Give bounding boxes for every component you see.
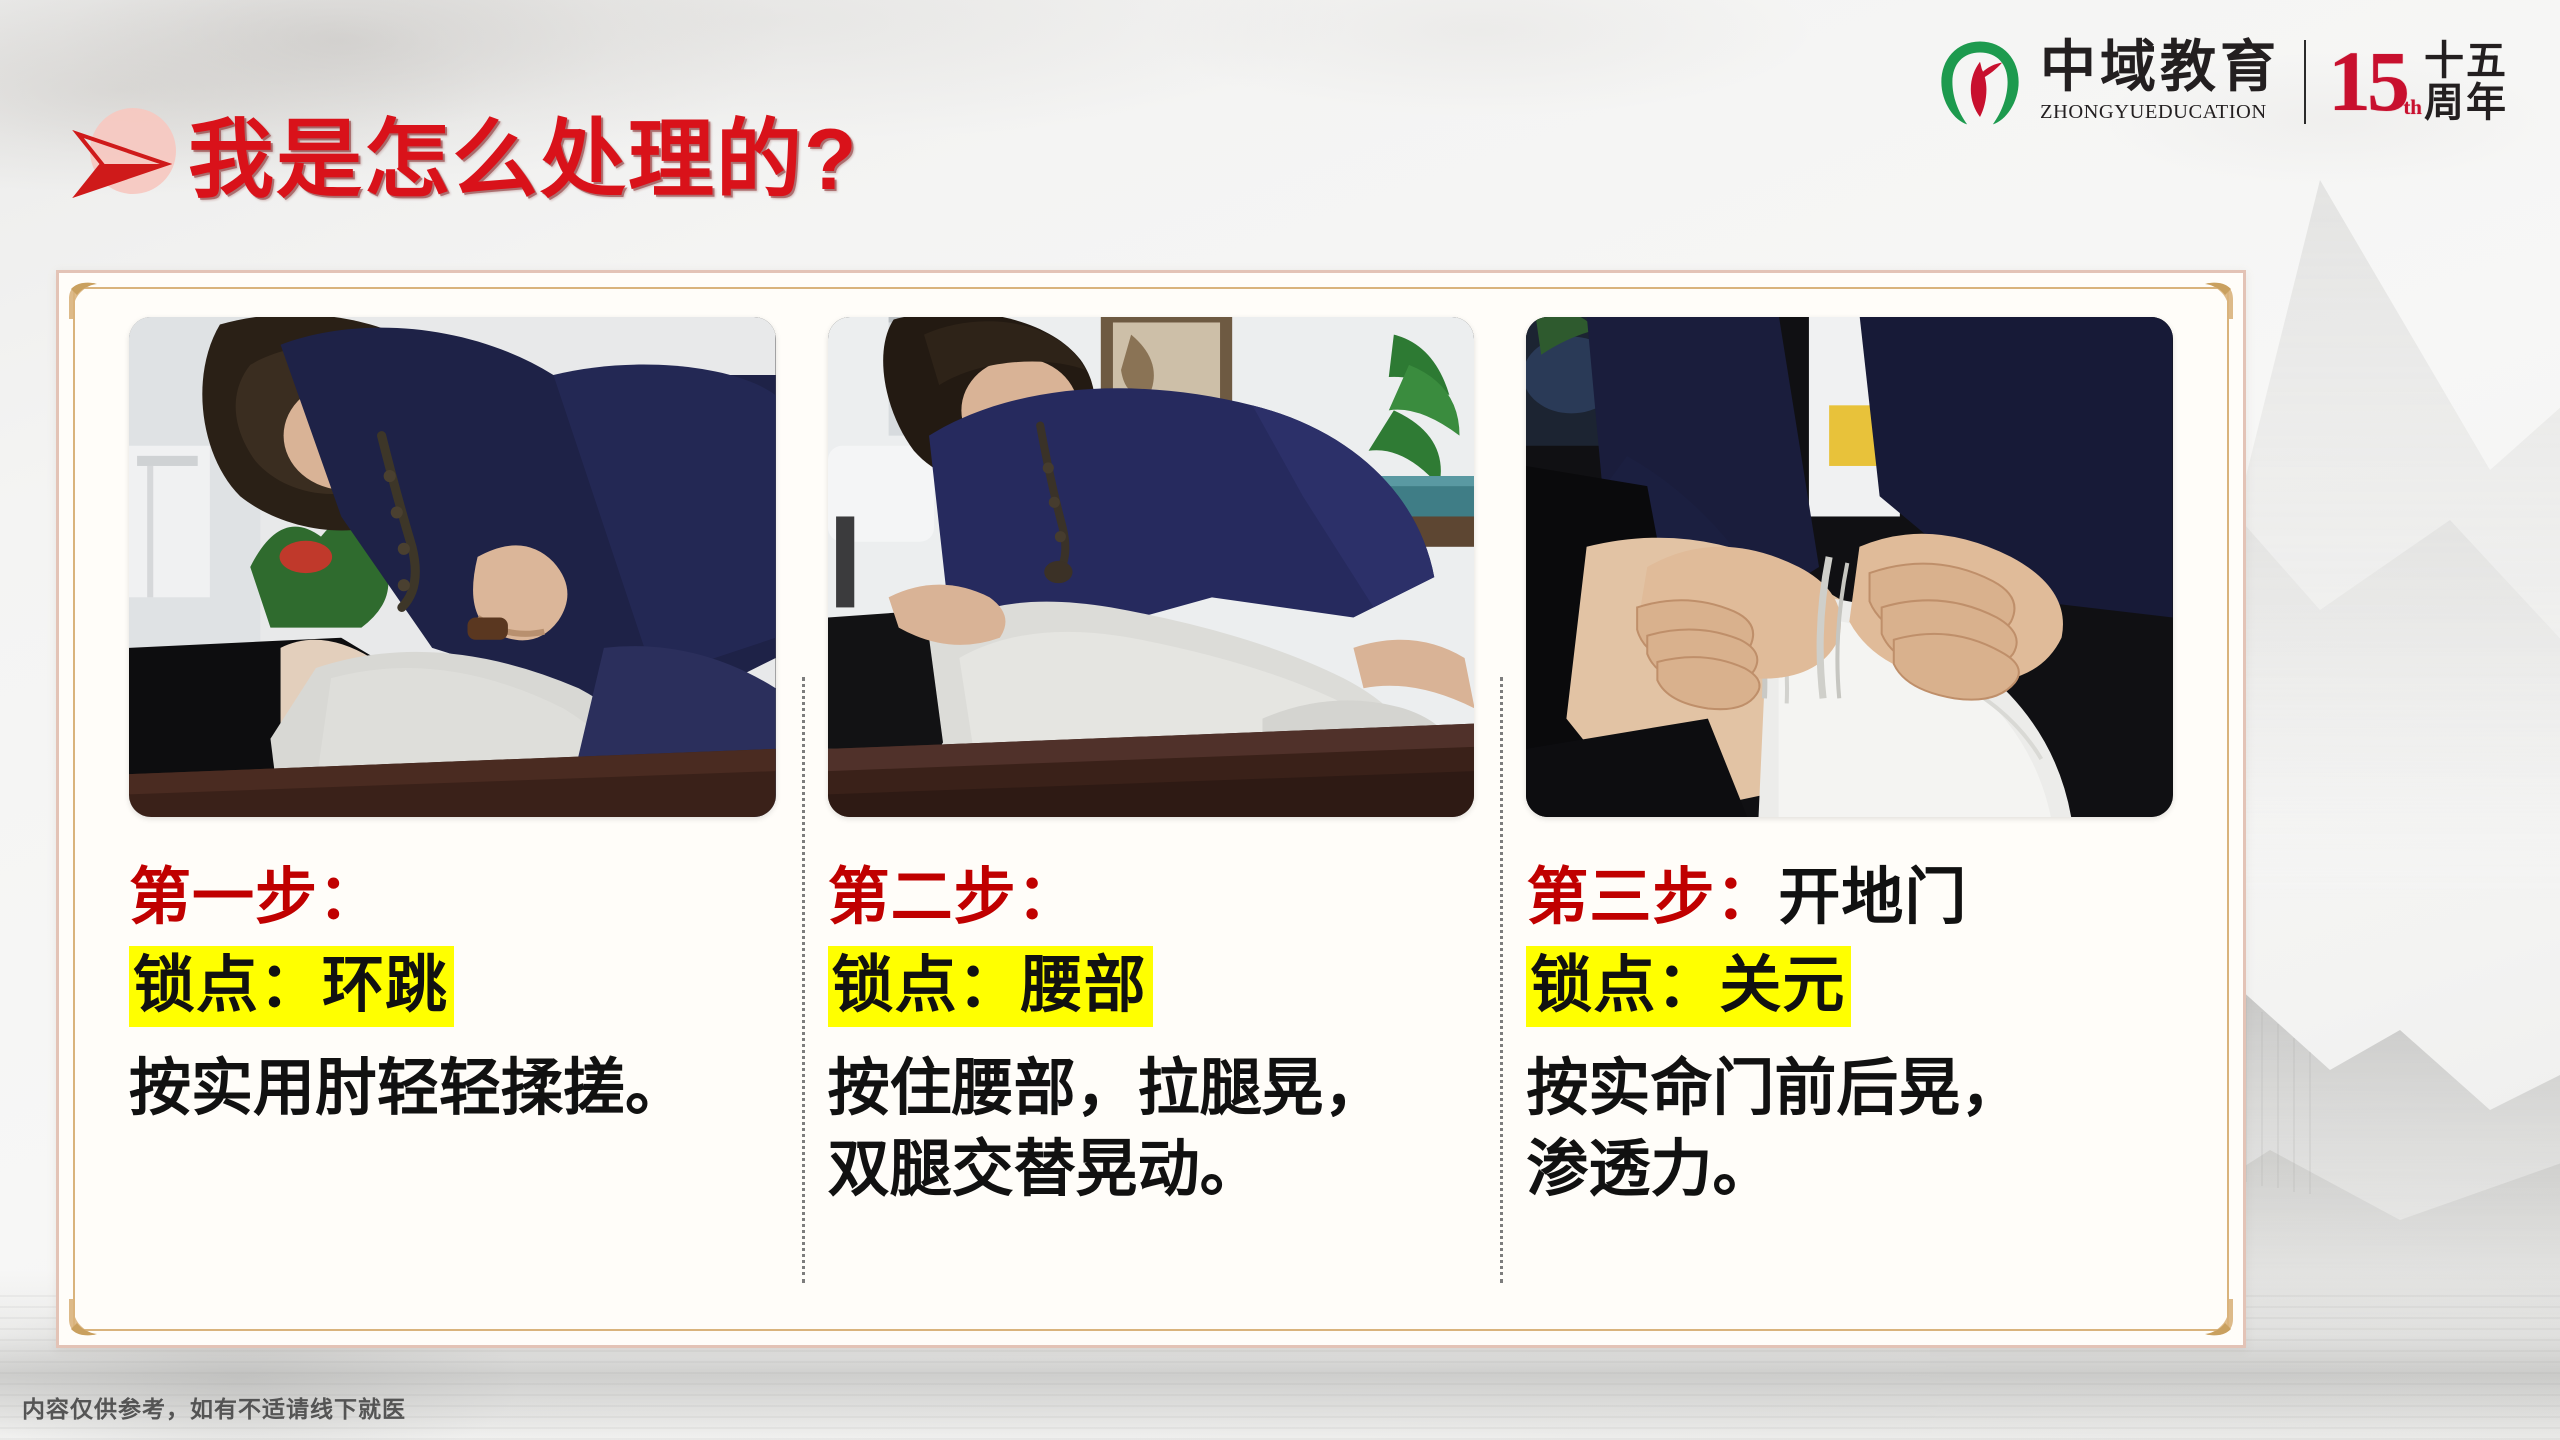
lock-point-line-2: 锁点：腰部: [828, 946, 1475, 1028]
step-column-2: 第二步： 锁点：腰部 按住腰部，拉腿晃， 双腿交替晃动。: [802, 317, 1501, 1305]
arrow-bullet-icon: [72, 130, 172, 198]
page-title-row: 我是怎么处理的?: [66, 100, 859, 220]
photo-waist-hold-illustration: [828, 317, 1475, 817]
step-number-label: 第二步：: [828, 863, 1080, 932]
brand-name-cn: 中域教育: [2040, 40, 2280, 98]
page-title: 我是怎么处理的?: [188, 117, 859, 203]
photo-elbow-press-illustration: [129, 317, 776, 817]
step-column-1: 第一步： 锁点：环跳 按实用肘轻轻揉搓。: [103, 317, 802, 1305]
step-heading-extra: 开地门: [1778, 863, 1967, 932]
step-description-line: 按实命门前后晃，: [1526, 1049, 2173, 1130]
step-description-1: 按实用肘轻轻揉搓。: [129, 1049, 776, 1130]
step-photo-3: [1526, 317, 2173, 817]
steps-columns: 第一步： 锁点：环跳 按实用肘轻轻揉搓。: [103, 317, 2199, 1305]
anniversary-suffix: th: [2403, 98, 2422, 117]
step-column-3: 第三步：开地门 锁点：关元 按实命门前后晃， 渗透力。: [1500, 317, 2199, 1305]
step-description-line: 渗透力。: [1526, 1130, 2173, 1211]
anniversary-cn: 十五 周年: [2424, 40, 2508, 125]
anniversary-block: 15th 十五 周年: [2328, 40, 2508, 125]
step-description-3: 按实命门前后晃， 渗透力。: [1526, 1049, 2173, 1210]
disclaimer-note: 内容仅供参考，如有不适请线下就医: [22, 1390, 406, 1424]
zhongyu-logo-icon: [1934, 36, 2026, 128]
lock-point-line-3: 锁点：关元: [1526, 946, 2173, 1028]
step-description-2: 按住腰部，拉腿晃， 双腿交替晃动。: [828, 1049, 1475, 1210]
step-number-label: 第一步：: [129, 863, 381, 932]
anniversary-number: 15th: [2328, 42, 2406, 121]
photo-hands-on-waist-illustration: [1526, 317, 2173, 817]
title-bullet: [66, 100, 194, 220]
step-number-label: 第三步：: [1526, 863, 1778, 932]
brand-logo: 中域教育 ZHONGYUEDUCATION 15th 十五 周年: [1934, 28, 2508, 136]
anniversary-number-text: 15: [2328, 33, 2406, 129]
step-description-line: 按住腰部，拉腿晃，: [828, 1049, 1475, 1130]
step-heading-1: 第一步：: [129, 863, 776, 934]
step-description-line: 双腿交替晃动。: [828, 1130, 1475, 1211]
anniversary-cn-line2: 周年: [2424, 82, 2508, 124]
lock-point-line-1: 锁点：环跳: [129, 946, 776, 1028]
step-heading-2: 第二步：: [828, 863, 1475, 934]
step-photo-1: [129, 317, 776, 817]
logo-divider: [2304, 40, 2306, 124]
lock-point-highlight: 锁点：环跳: [129, 946, 454, 1028]
brand-name-block: 中域教育 ZHONGYUEDUCATION: [2040, 40, 2280, 124]
lock-point-highlight: 锁点：腰部: [828, 946, 1153, 1028]
lock-point-highlight: 锁点：关元: [1526, 946, 1851, 1028]
step-heading-3: 第三步：开地门: [1526, 863, 2173, 934]
step-description-line: 按实用肘轻轻揉搓。: [129, 1049, 776, 1130]
content-card: 第一步： 锁点：环跳 按实用肘轻轻揉搓。: [56, 270, 2246, 1348]
step-photo-2: [828, 317, 1475, 817]
brand-name-en: ZHONGYUEDUCATION: [2040, 101, 2280, 124]
slide-root: 中域教育 ZHONGYUEDUCATION 15th 十五 周年 我是怎么处理的…: [0, 0, 2560, 1440]
anniversary-cn-line1: 十五: [2424, 40, 2508, 82]
